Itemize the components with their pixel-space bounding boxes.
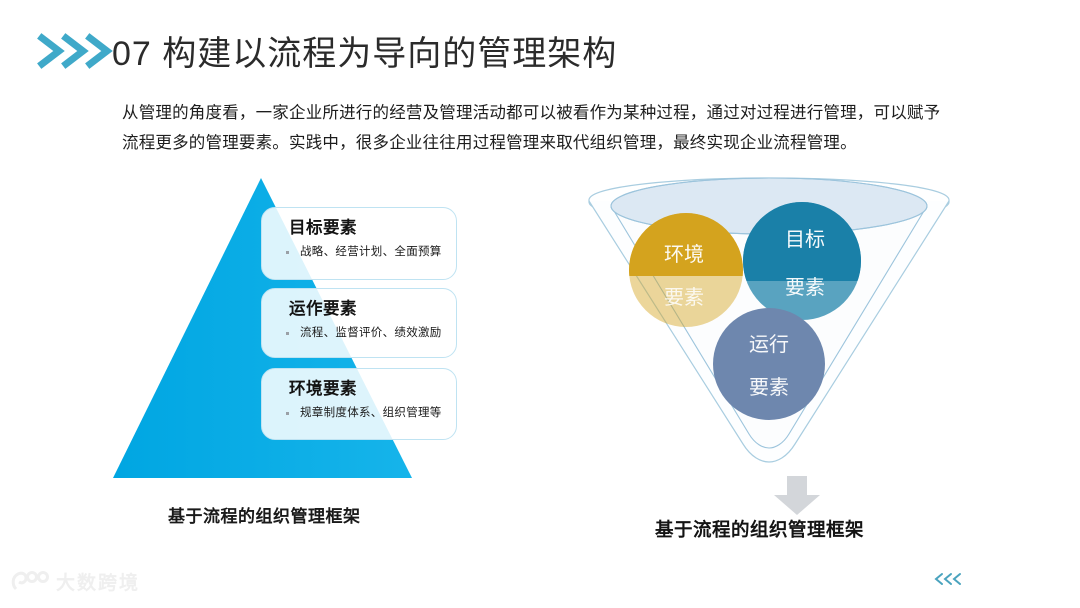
- pyramid-layer-1-detail-text: 战略、经营计划、全面预算: [300, 241, 442, 263]
- circle-environment-line1: 环境: [664, 243, 704, 266]
- slide: 07 构建以流程为导向的管理架构 从管理的角度看，一家企业所进行的经营及管理活动…: [0, 0, 1080, 608]
- pyramid-layer-2-detail-text: 流程、监督评价、绩效激励: [300, 322, 442, 344]
- pyramid-layer-1-detail: 战略、经营计划、全面预算: [286, 241, 456, 263]
- pyramid-layer-3-title: 环境要素: [289, 376, 456, 402]
- page-title: 07 构建以流程为导向的管理架构: [112, 26, 617, 75]
- body-line-2: 流程更多的管理要素。实践中，很多企业往往用过程管理来取代组织管理，最终实现企业流…: [122, 128, 974, 158]
- body-paragraph: 从管理的角度看，一家企业所进行的经营及管理活动都可以被看作为某种过程，通过对过程…: [122, 98, 974, 158]
- funnel-caption: 基于流程的组织管理框架: [655, 516, 864, 542]
- pyramid-layer-3-detail-text: 规章制度体系、组织管理等: [300, 402, 442, 424]
- circle-operation-line2: 要素: [749, 376, 789, 399]
- bullet-square-icon: [286, 251, 289, 254]
- pyramid-diagram: 目标要素 战略、经营计划、全面预算 运作要素 流程、监督评价、绩效激励 环境要素…: [100, 170, 480, 490]
- pyramid-layer-2-title: 运作要素: [289, 296, 456, 322]
- funnel-diagram: 环境 要素 目标 要素 运行 要素: [583, 176, 963, 486]
- circle-environment[interactable]: [629, 213, 743, 327]
- bullet-square-icon: [286, 332, 289, 335]
- watermark-text: 大数跨境: [56, 568, 140, 595]
- circle-goal[interactable]: [743, 202, 861, 320]
- watermark: 大数跨境: [10, 566, 140, 596]
- circle-operation[interactable]: [713, 308, 825, 420]
- triple-chevron-right-icon: [36, 30, 120, 72]
- logo-mark-icon: [10, 569, 50, 593]
- pyramid-layer-2-detail: 流程、监督评价、绩效激励: [286, 322, 456, 344]
- triple-chevron-left-icon[interactable]: [932, 572, 966, 586]
- pyramid-layer-2[interactable]: 运作要素 流程、监督评价、绩效激励: [261, 288, 457, 358]
- pyramid-layer-3-detail: 规章制度体系、组织管理等: [286, 402, 456, 424]
- pyramid-caption: 基于流程的组织管理框架: [168, 502, 361, 527]
- pyramid-layer-3[interactable]: 环境要素 规章制度体系、组织管理等: [261, 368, 457, 440]
- down-arrow-icon: [770, 476, 824, 516]
- circle-goal-line1: 目标: [785, 228, 825, 251]
- pyramid-layer-1[interactable]: 目标要素 战略、经营计划、全面预算: [261, 207, 457, 280]
- circle-environment-line2: 要素: [664, 286, 704, 309]
- bullet-square-icon: [286, 412, 289, 415]
- body-line-1: 从管理的角度看，一家企业所进行的经营及管理活动都可以被看作为某种过程，通过对过程…: [122, 98, 974, 128]
- circle-operation-line1: 运行: [749, 333, 789, 356]
- pyramid-layer-1-title: 目标要素: [289, 215, 456, 241]
- circle-goal-line2: 要素: [785, 276, 825, 299]
